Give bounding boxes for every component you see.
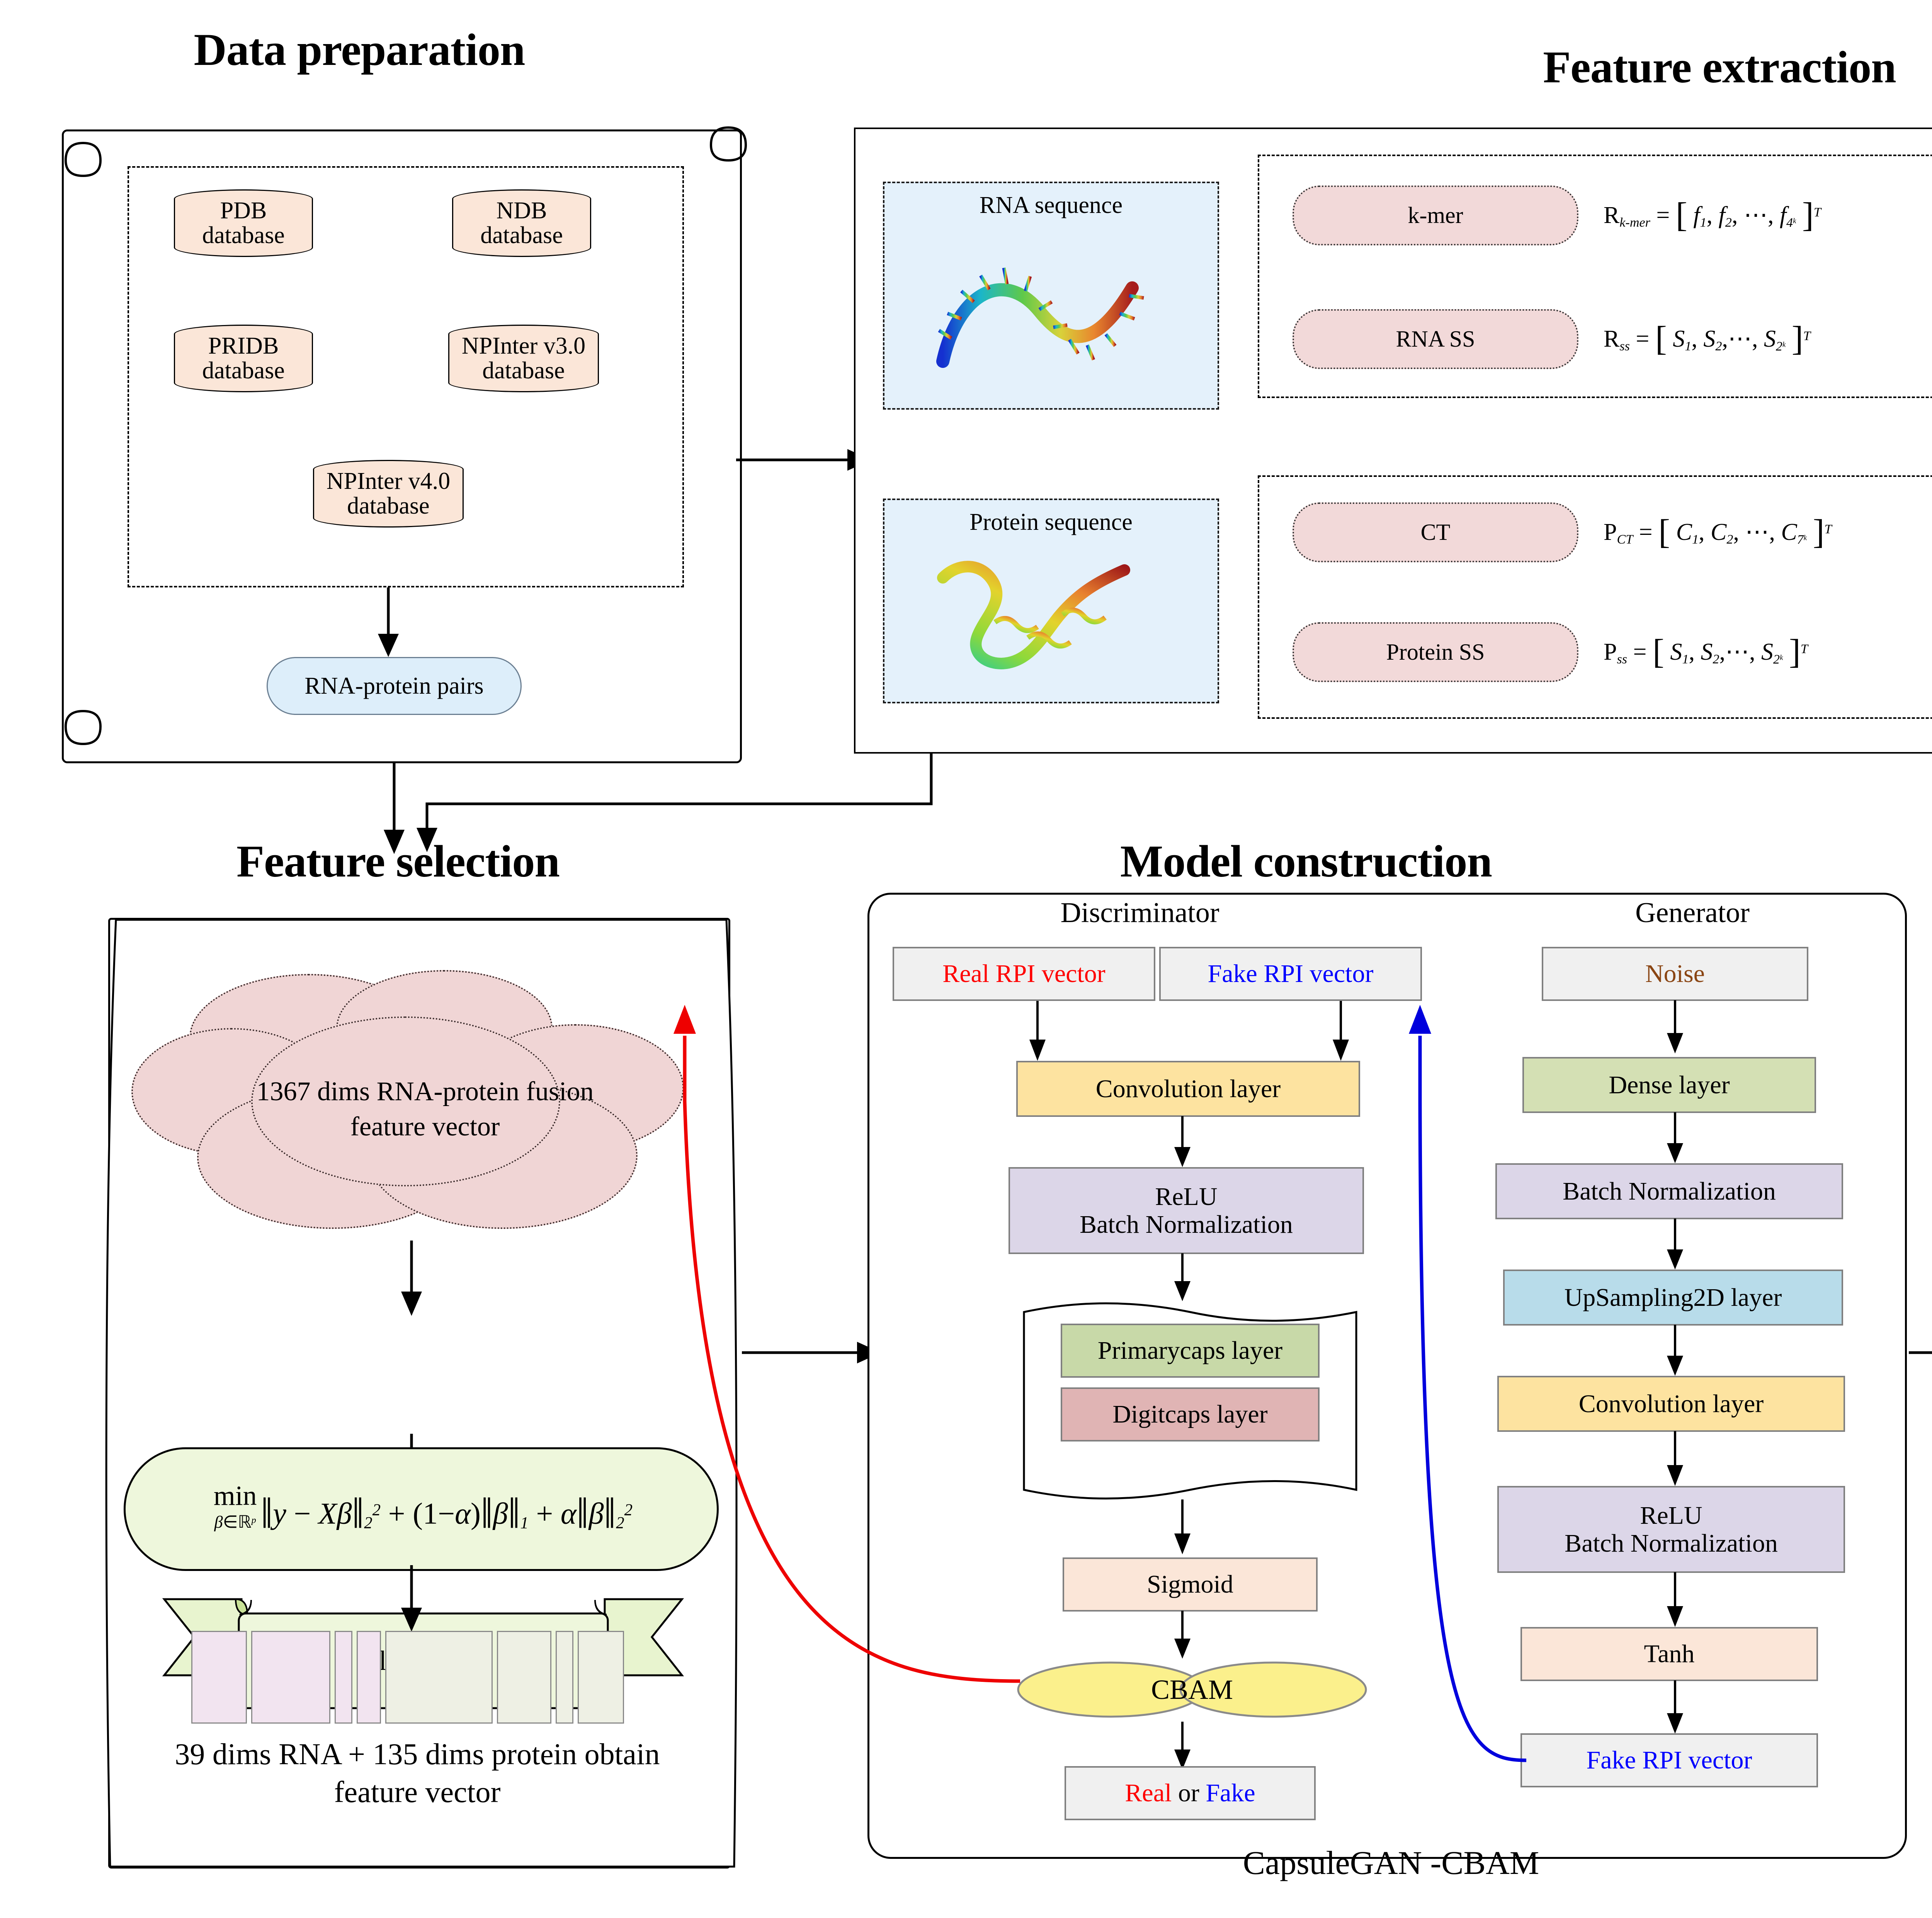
stage-title-data-preparation: Data preparation (70, 27, 649, 73)
database-pridb[interactable]: PRIDBdatabase (174, 325, 313, 392)
feature-bar (578, 1631, 624, 1724)
formula-protein-ss: Pss = [ S1, S2,⋯, S2k ]T (1604, 632, 1808, 672)
stage-title-feature-selection: Feature selection (70, 839, 726, 884)
database-pdb-name: PDB (220, 197, 267, 224)
database-npinter-v4-sub: database (347, 493, 429, 519)
generator-relu-bn-label: ReLU Batch Normalization (1565, 1502, 1778, 1557)
formula-kmer: Rk-mer = [ f1, f2, ⋯, f4k ]T (1604, 195, 1821, 235)
generator-dense-label: Dense layer (1609, 1071, 1730, 1099)
arrow-dense-to-bn (1658, 1112, 1704, 1166)
database-pdb-sub: database (202, 222, 284, 248)
arrow-bn-to-upsample (1658, 1219, 1704, 1273)
protein-sequence-panel: Protein sequence (883, 499, 1219, 703)
protein-structure-illustration (916, 539, 1186, 686)
feature-bar (385, 1631, 492, 1724)
generator-noise[interactable]: Noise (1542, 947, 1808, 1001)
selected-feature-bars (191, 1631, 624, 1724)
method-ct-label: CT (1421, 520, 1451, 545)
database-ndb-sub: database (480, 222, 563, 248)
generator-bn-label: Batch Normalization (1563, 1178, 1776, 1205)
output-or-label: or (1172, 1779, 1206, 1807)
arrow-noise-to-dense (1658, 1000, 1704, 1056)
fusion-feature-cloud-text: 1367 dims RNA-protein fusion feature vec… (128, 970, 723, 1248)
database-npinter-v3-sub: database (482, 357, 565, 384)
formula-rna-ss: Rss = [ S1, S2,⋯, S2k ]T (1604, 319, 1811, 359)
elastic-net-objective-formula: minβ∈ℝp‖y − Xβ‖22 + (1−α)‖β‖1 + α‖β‖22 (210, 1480, 633, 1539)
formula-ct: PCT = [ C1, C2, ⋯, C7k ]T (1604, 512, 1832, 552)
arrow-dconv-to-relu (1165, 1116, 1211, 1170)
stage-title-model-construction: Model construction (939, 839, 1673, 884)
output-real-label: Real (1125, 1779, 1172, 1807)
rna-protein-pairs-label: RNA-protein pairs (304, 672, 483, 700)
selected-feature-caption: 39 dims RNA + 135 dims protein obtain fe… (139, 1735, 696, 1811)
stage-title-feature-extraction: Feature extraction (1352, 44, 1932, 90)
arrow-tanh-to-fake (1658, 1680, 1704, 1736)
digitcaps-layer[interactable]: Digitcaps layer (1061, 1387, 1320, 1441)
feature-bar (251, 1631, 331, 1724)
arrow-caps-to-sigmoid (1165, 1499, 1211, 1557)
feature-bar (357, 1631, 381, 1724)
arrow-grelu-to-tanh (1658, 1572, 1704, 1630)
method-protein-ss[interactable]: Protein SS (1293, 622, 1578, 682)
discriminator-label: Discriminator (908, 897, 1372, 929)
generator-tanh-label: Tanh (1644, 1640, 1694, 1668)
method-kmer[interactable]: k-mer (1293, 186, 1578, 245)
arrow-db-to-pairs (371, 587, 417, 661)
database-pridb-sub: database (202, 357, 284, 384)
protein-sequence-label: Protein sequence (969, 509, 1133, 536)
database-npinter-v4-name: NPInter v4.0 (327, 468, 450, 494)
arrow-drelu-to-caps (1165, 1253, 1211, 1304)
input-fake-rpi-label: Fake RPI vector (1208, 960, 1374, 987)
rna-sequence-label: RNA sequence (980, 192, 1122, 219)
discriminator-convolution-label: Convolution layer (1096, 1075, 1281, 1103)
database-ndb[interactable]: NDBdatabase (452, 189, 591, 257)
database-pridb-name: PRIDB (208, 333, 279, 359)
database-ndb-name: NDB (497, 197, 547, 224)
method-rna-ss-label: RNA SS (1396, 327, 1475, 351)
arrow-objective-to-bars (392, 1565, 442, 1635)
arrow-cbam-to-output (1165, 1722, 1211, 1772)
method-kmer-label: k-mer (1408, 203, 1463, 228)
generator-label: Generator (1499, 897, 1886, 929)
arrow-upsample-to-conv (1658, 1325, 1704, 1379)
database-npinter-v4[interactable]: NPInter v4.0database (313, 460, 464, 528)
arrow-gconv-to-relu (1658, 1431, 1704, 1489)
database-pdb[interactable]: PDBdatabase (174, 189, 313, 257)
input-real-rpi-label: Real RPI vector (942, 960, 1105, 987)
fake-feedback-arrow (1345, 989, 1577, 1785)
arrow-sigmoid-to-cbam (1165, 1611, 1211, 1661)
feature-bar (191, 1631, 247, 1724)
sigmoid-layer[interactable]: Sigmoid (1063, 1557, 1318, 1612)
database-npinter-v3[interactable]: NPInter v3.0database (448, 325, 599, 392)
discriminator-output: Real or Fake (1065, 1766, 1316, 1820)
generator-noise-label: Noise (1645, 960, 1705, 987)
generator-upsampling-label: UpSampling2D layer (1565, 1284, 1782, 1311)
arrow-cloud-to-elasticnet (392, 1241, 442, 1318)
feature-bar (556, 1631, 573, 1724)
primarycaps-layer[interactable]: Primarycaps layer (1061, 1324, 1320, 1378)
fusion-feature-cloud: 1367 dims RNA-protein fusion feature vec… (128, 970, 723, 1248)
arrow-modelconstruction-to-modelprediction (1909, 1322, 1932, 1384)
method-protein-ss-label: Protein SS (1386, 640, 1485, 664)
rna-structure-illustration (916, 222, 1186, 392)
feature-bar (335, 1631, 352, 1724)
method-ct[interactable]: CT (1293, 502, 1578, 562)
sigmoid-label: Sigmoid (1147, 1571, 1233, 1598)
primarycaps-label: Primarycaps layer (1098, 1337, 1282, 1364)
method-rna-ss[interactable]: RNA SS (1293, 309, 1578, 369)
output-fake-label: Fake (1206, 1779, 1255, 1807)
feature-bar (497, 1631, 552, 1724)
generator-convolution-label: Convolution layer (1579, 1390, 1764, 1418)
generator-fake-rpi-label: Fake RPI vector (1587, 1746, 1752, 1774)
rna-protein-pairs-node[interactable]: RNA-protein pairs (267, 657, 522, 715)
discriminator-relu-bn-label: ReLU Batch Normalization (1080, 1183, 1293, 1238)
rna-sequence-panel: RNA sequence (883, 182, 1219, 410)
capsulegan-cbam-caption: CapsuleGAN -CBAM (1121, 1843, 1662, 1882)
digitcaps-label: Digitcaps layer (1112, 1401, 1267, 1428)
database-npinter-v3-name: NPInter v3.0 (462, 333, 585, 359)
